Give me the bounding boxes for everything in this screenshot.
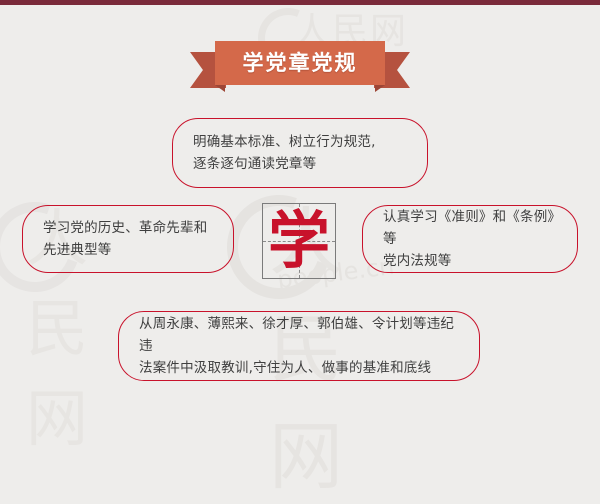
center-character: 学 [263, 210, 335, 272]
callout-box-top-text: 明确基本标准、树立行为规范, 逐条逐句通读党章等 [173, 131, 427, 175]
callout-line: 逐条逐句通读党章等 [193, 153, 407, 175]
callout-line: 学习党的历史、革命先辈和 [43, 217, 213, 239]
callout-line: 法案件中汲取教训,守住为人、做事的基准和底线 [139, 357, 459, 379]
page-title: 学党章党规 [215, 41, 385, 85]
center-character-cell: 学 [262, 203, 336, 279]
callout-line: 认真学习《准则》和《条例》等 [383, 206, 557, 250]
top-accent-rule [0, 0, 600, 5]
callout-line: 先进典型等 [43, 239, 213, 261]
callout-line: 从周永康、薄熙来、徐才厚、郭伯雄、令计划等违纪违 [139, 313, 459, 357]
callout-line: 明确基本标准、树立行为规范, [193, 131, 407, 153]
callout-box-left-text: 学习党的历史、革命先辈和 先进典型等 [23, 217, 233, 261]
callout-box-bottom-text: 从周永康、薄熙来、徐才厚、郭伯雄、令计划等违纪违 法案件中汲取教训,守住为人、做… [119, 313, 479, 379]
callout-box-left: 学习党的历史、革命先辈和 先进典型等 [22, 205, 234, 273]
callout-box-top: 明确基本标准、树立行为规范, 逐条逐句通读党章等 [172, 118, 428, 188]
callout-line: 党内法规等 [383, 250, 557, 272]
callout-box-bottom: 从周永康、薄熙来、徐才厚、郭伯雄、令计划等违纪违 法案件中汲取教训,守住为人、做… [118, 311, 480, 381]
callout-box-right: 认真学习《准则》和《条例》等 党内法规等 [362, 205, 578, 273]
callout-box-right-text: 认真学习《准则》和《条例》等 党内法规等 [363, 206, 577, 272]
title-ribbon: 学党章党规 [190, 41, 410, 91]
